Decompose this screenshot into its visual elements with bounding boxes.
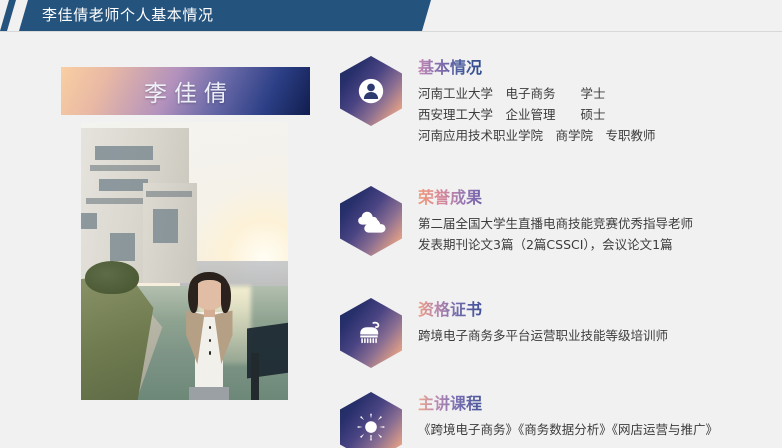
section-line: 第二届全国大学生直播电商技能竞赛优秀指导老师 (418, 213, 782, 234)
photo-person (168, 272, 251, 400)
photo-sign-post (251, 353, 259, 400)
photo-person-trousers (189, 387, 229, 400)
section-line: 跨境电子商务多平台运营职业技能等级培训师 (418, 325, 782, 346)
section-title: 资格证书 (418, 300, 482, 320)
slide-page: 李佳倩老师个人基本情况 李佳倩 (0, 0, 782, 448)
header-accent-shape (0, 0, 16, 31)
section-title: 荣誉成果 (418, 188, 482, 208)
info-sections: 基本情况 河南工业大学 电子商务 学士 西安理工大学 企业管理 硕士 河南应用技… (340, 56, 782, 448)
teacher-photo (81, 122, 288, 400)
section-courses: 主讲课程 《跨境电子商务》《商务数据分析》《网店运营与推广》 (340, 392, 782, 448)
sun-icon (340, 392, 402, 448)
photo-building-annex (143, 183, 197, 283)
teacher-name: 李佳倩 (137, 74, 234, 108)
photo-person-hair-right (221, 282, 231, 313)
section-certificates: 资格证书 跨境电子商务多平台运营职业技能等级培训师 (340, 298, 782, 370)
cloud-icon (340, 186, 402, 256)
person-icon (340, 56, 402, 126)
section-line: 河南工业大学 电子商务 学士 (418, 83, 782, 104)
section-basic-info: 基本情况 河南工业大学 电子商务 学士 西安理工大学 企业管理 硕士 河南应用技… (340, 56, 782, 146)
section-title: 基本情况 (418, 58, 482, 78)
section-title: 主讲课程 (418, 394, 482, 414)
slide-header: 李佳倩老师个人基本情况 (0, 0, 782, 31)
page-title: 李佳倩老师个人基本情况 (42, 0, 214, 31)
section-body: 基本情况 河南工业大学 电子商务 学士 西安理工大学 企业管理 硕士 河南应用技… (418, 56, 782, 146)
photo-bush (85, 261, 139, 294)
name-banner: 李佳倩 (61, 67, 310, 115)
section-body: 主讲课程 《跨境电子商务》《商务数据分析》《网店运营与推广》 (418, 392, 782, 440)
header-divider (0, 31, 782, 32)
section-line: 河南应用技术职业学院 商学院 专职教师 (418, 125, 782, 146)
section-body: 荣誉成果 第二届全国大学生直播电商技能竞赛优秀指导老师 发表期刊论文3篇（2篇C… (418, 186, 782, 255)
section-body: 资格证书 跨境电子商务多平台运营职业技能等级培训师 (418, 298, 782, 346)
section-line: 西安理工大学 企业管理 硕士 (418, 104, 782, 125)
photo-person-hair-left (188, 282, 198, 313)
section-honors: 荣誉成果 第二届全国大学生直播电商技能竞赛优秀指导老师 发表期刊论文3篇（2篇C… (340, 186, 782, 258)
section-line: 发表期刊论文3篇（2篇CSSCI），会议论文1篇 (418, 234, 782, 255)
brush-icon (340, 298, 402, 368)
section-line: 《跨境电子商务》《商务数据分析》《网店运营与推广》 (418, 419, 782, 440)
